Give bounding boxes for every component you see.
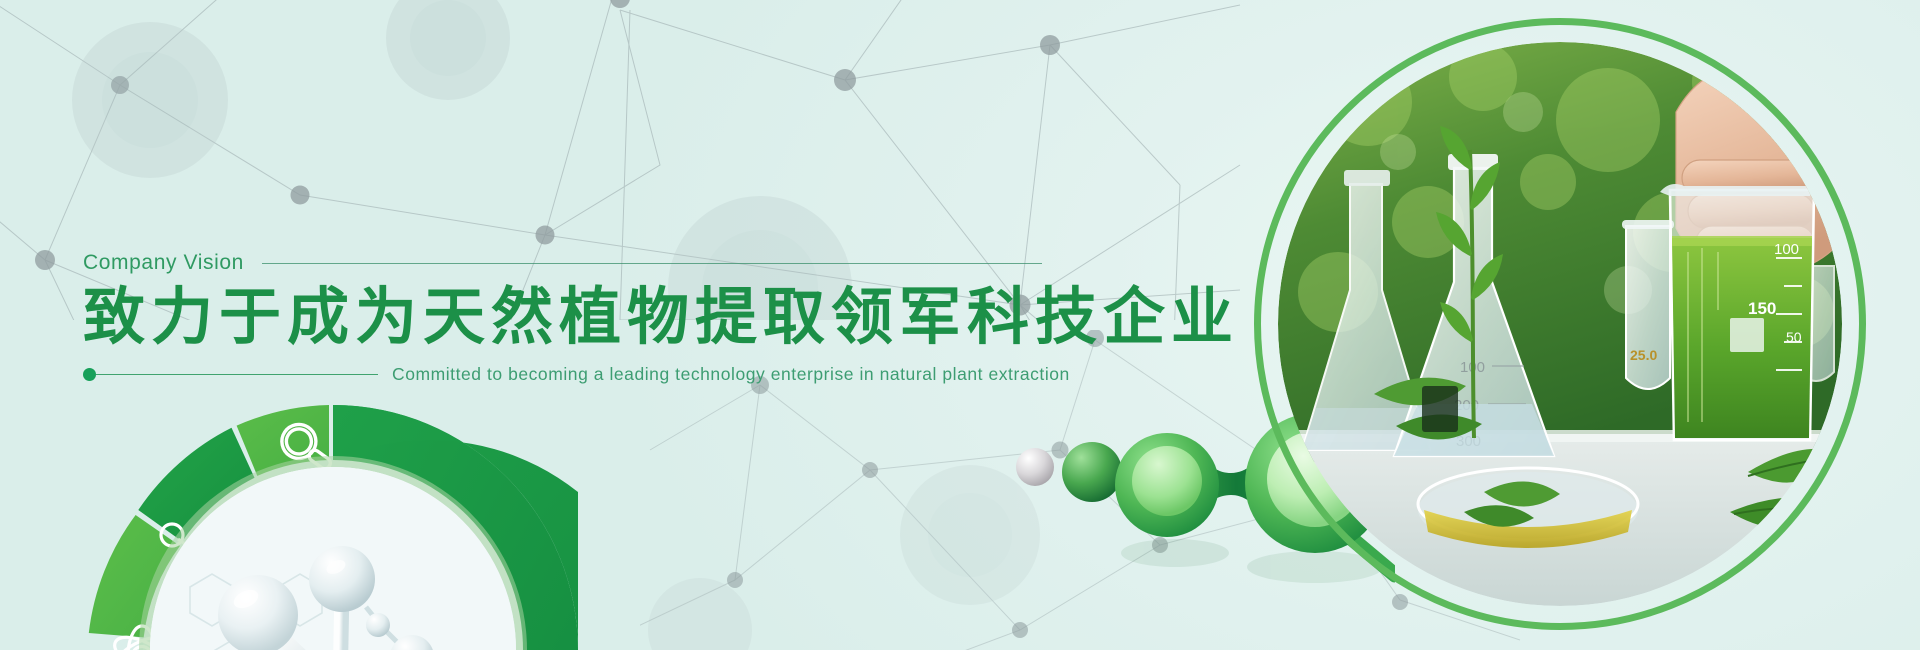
tube-mark: 25.0 [1630,347,1657,363]
beaker-mark-150: 150 [1748,299,1776,318]
page-title: 致力于成为天然植物提取领军科技企业 [83,284,1153,353]
subtitle-row: Committed to becoming a leading technolo… [83,363,1153,385]
laboratory-plant-extraction-photo: 100 200 300 [1278,42,1842,606]
node-green-small [1062,442,1122,502]
eyebrow-divider [262,263,1042,264]
subtitle-text: Committed to becoming a leading technolo… [392,364,1070,385]
eyebrow-label: Company Vision [83,251,244,275]
vision-text-block: Company Vision 致力于成为天然植物提取领军科技企业 Committ… [83,250,1153,385]
node-green-mid-inner [1132,446,1202,516]
vision-arc-chart [88,405,578,650]
beaker-mark-100: 100 [1774,241,1799,258]
node-grey-small [1016,448,1054,486]
eyebrow-row: Company Vision [83,250,1153,276]
bullet-dot-icon [83,368,96,381]
subtitle-divider [96,374,378,375]
beaker-mark-50: 50 [1786,329,1802,345]
photo-ring-frame: 100 200 300 [1254,18,1866,630]
company-vision-banner: Company Vision 致力于成为天然植物提取领军科技企业 Committ… [0,0,1920,650]
